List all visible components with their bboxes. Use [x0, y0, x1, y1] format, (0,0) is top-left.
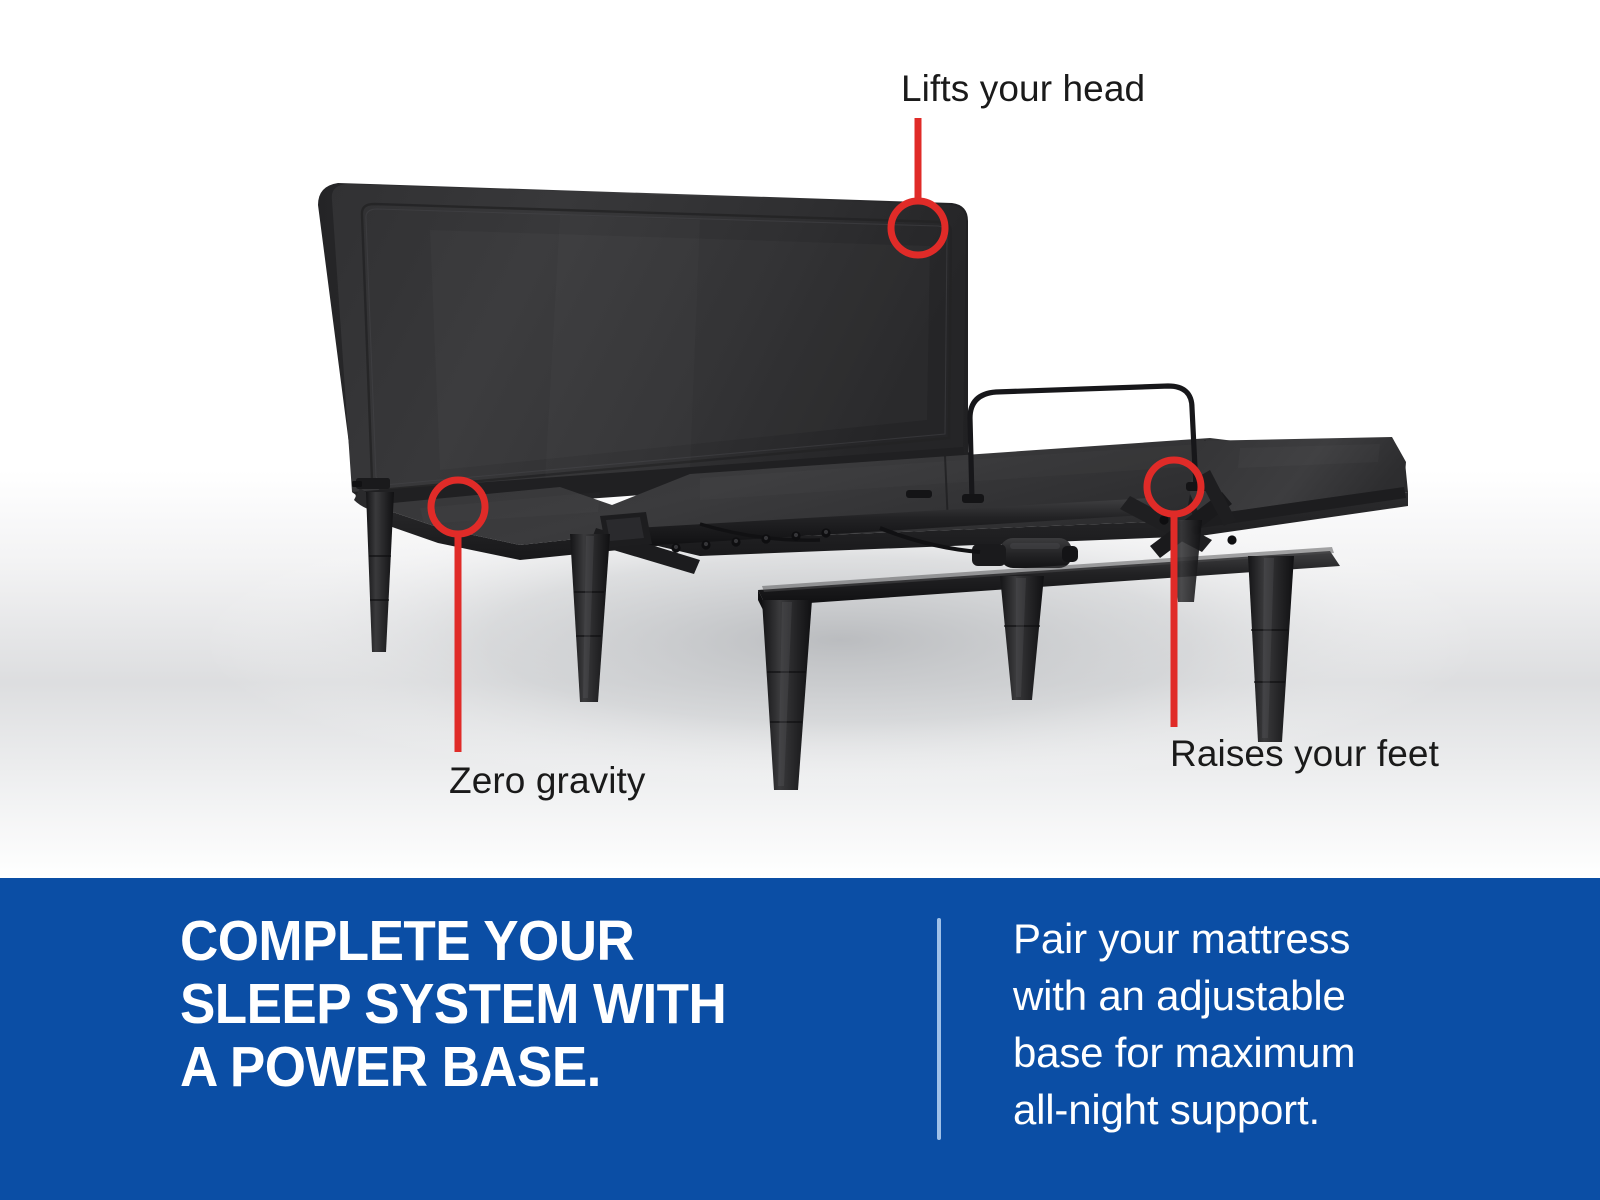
callout-label-lifts-head: Lifts your head	[901, 70, 1145, 107]
headline-line-1: COMPLETE YOUR	[180, 910, 726, 973]
vertical-divider	[937, 918, 941, 1140]
subcopy-line-1: Pair your mattress	[1013, 910, 1355, 967]
product-photo-area: Lifts your head Zero gravity Raises your…	[0, 0, 1600, 878]
subcopy-line-4: all-night support.	[1013, 1081, 1355, 1138]
marketing-banner-page: Lifts your head Zero gravity Raises your…	[0, 0, 1600, 1200]
subcopy-line-2: with an adjustable	[1013, 967, 1355, 1024]
headline-line-3: A POWER BASE.	[180, 1036, 726, 1099]
subcopy-line-3: base for maximum	[1013, 1024, 1355, 1081]
promo-subcopy: Pair your mattress with an adjustable ba…	[1013, 910, 1355, 1138]
head-hinge-bracket	[352, 478, 390, 489]
callout-label-zero-gravity: Zero gravity	[449, 762, 646, 799]
headline-line-2: SLEEP SYSTEM WITH	[180, 973, 726, 1036]
callout-label-raises-feet: Raises your feet	[1170, 735, 1439, 772]
promo-headline: COMPLETE YOUR SLEEP SYSTEM WITH A POWER …	[180, 910, 726, 1099]
promo-banner: COMPLETE YOUR SLEEP SYSTEM WITH A POWER …	[0, 878, 1600, 1200]
